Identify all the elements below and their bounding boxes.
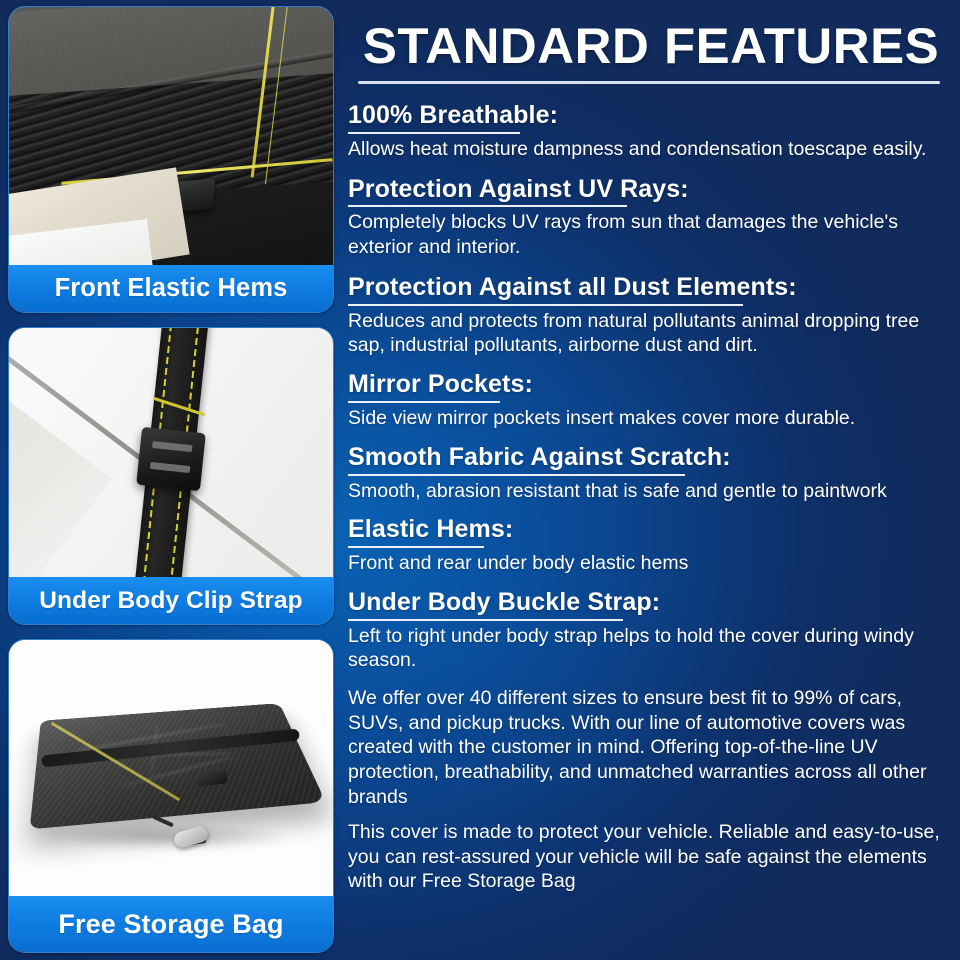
features-list: 100% Breathable: Allows heat moisture da… [348, 101, 954, 672]
feature-item: Protection Against UV Rays: Completely b… [348, 175, 954, 259]
product-photo-column: Front Elastic Hems Under Body Clip Strap [8, 6, 334, 954]
feature-item: Elastic Hems: Front and rear under body … [348, 515, 954, 575]
photo-panel-front-elastic-hems: Front Elastic Hems [8, 6, 334, 313]
feature-body: Reduces and protects from natural pollut… [348, 309, 954, 358]
feature-heading: Elastic Hems: [348, 515, 513, 548]
infographic-root: Front Elastic Hems Under Body Clip Strap [0, 0, 960, 960]
feature-body: Completely blocks UV rays from sun that … [348, 210, 954, 259]
photo-caption-front-elastic-hems: Front Elastic Hems [9, 265, 333, 312]
page-title: STANDARD FEATURES [342, 20, 960, 72]
feature-heading: Under Body Buckle Strap: [348, 588, 660, 621]
feature-heading: Protection Against all Dust Elements: [348, 273, 797, 306]
feature-item: Protection Against all Dust Elements: Re… [348, 273, 954, 357]
feature-heading: Protection Against UV Rays: [348, 175, 689, 208]
feature-body: Smooth, abrasion resistant that is safe … [348, 479, 954, 503]
feature-body: Side view mirror pockets insert makes co… [348, 406, 954, 430]
feature-item: Smooth Fabric Against Scratch: Smooth, a… [348, 443, 954, 503]
photo-caption-free-storage-bag: Free Storage Bag [9, 896, 333, 952]
feature-body: Left to right under body strap helps to … [348, 624, 954, 673]
sizing-paragraph: We offer over 40 different sizes to ensu… [348, 686, 954, 809]
photo-free-storage-bag [9, 640, 333, 896]
photo-front-elastic-hems [9, 7, 333, 265]
feature-heading: Smooth Fabric Against Scratch: [348, 443, 731, 476]
closing-paragraph: This cover is made to protect your vehic… [348, 820, 954, 894]
photo-caption-under-body-clip-strap: Under Body Clip Strap [9, 577, 333, 624]
feature-body: Front and rear under body elastic hems [348, 551, 954, 575]
feature-item: 100% Breathable: Allows heat moisture da… [348, 101, 954, 161]
feature-body: Allows heat moisture dampness and conden… [348, 137, 954, 161]
feature-item: Mirror Pockets: Side view mirror pockets… [348, 370, 954, 430]
photo-panel-free-storage-bag: Free Storage Bag [8, 639, 334, 953]
photo-panel-under-body-clip-strap: Under Body Clip Strap [8, 327, 334, 625]
photo-under-body-clip-strap [9, 328, 333, 577]
feature-item: Under Body Buckle Strap: Left to right u… [348, 588, 954, 672]
title-divider [358, 81, 940, 84]
feature-heading: 100% Breathable: [348, 101, 558, 134]
features-column: STANDARD FEATURES 100% Breathable: Allow… [344, 0, 960, 960]
strap-buckle-icon [136, 427, 206, 491]
feature-heading: Mirror Pockets: [348, 370, 533, 403]
